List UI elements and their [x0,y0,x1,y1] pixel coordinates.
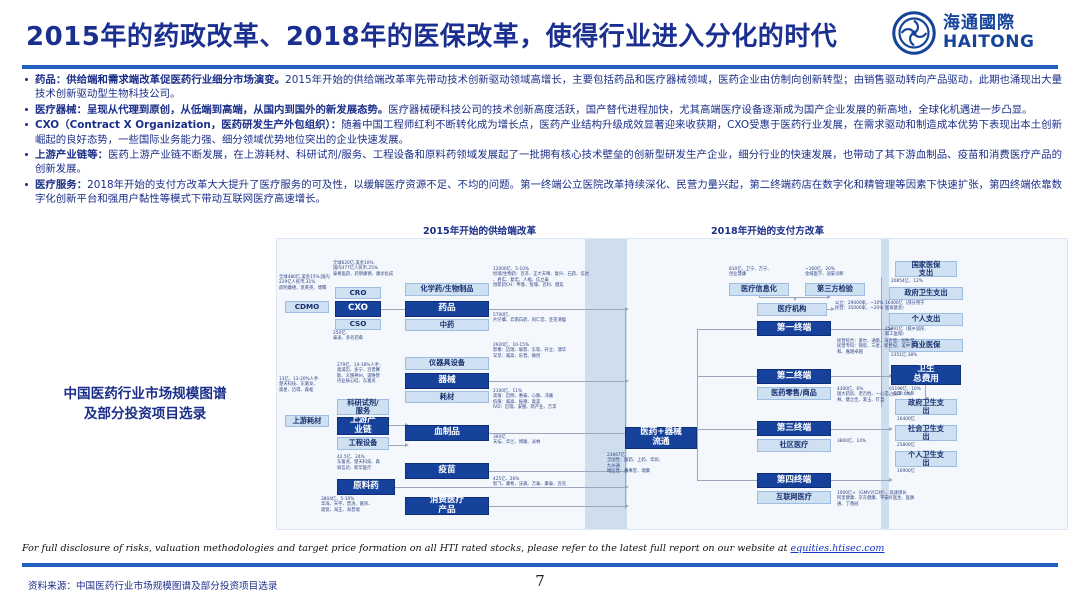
diagram-note-n_cons: 2100亿、11% 高值：启明、惠泰、心脉、沛嘉 低值：威高、振德、奥美 IVD… [493,389,601,411]
slide-page: 2015年的药政改革、2018年的医保改革，使得行业进入分化的时代 海通國際 H… [0,0,1080,607]
diagram-node-instr[interactable]: 仪器具设备 [405,357,489,370]
diagram-node-morg[interactable]: 医疗机构 [757,303,827,316]
diagram-note-n_t4: 1000亿+（GMV计口径），高速增长 阿里健康、京东健康、平安好医生、医脉 通… [837,491,917,507]
connector-line [697,376,757,377]
bullet-lead: 上游产业链等： [35,149,108,161]
diagram-note-n_third: ~160亿、20% 金域医学、迪安诊断 [805,267,867,278]
diagram-note-n_pers2: 16900亿 [897,469,957,474]
diagram-note-n_cso: 250亿, 泰凌、多名药肴 [333,331,381,342]
diagram-node-dev[interactable]: 器械 [405,373,489,389]
connector-line [831,480,889,481]
diagram-node-t4[interactable]: 第四终端 [757,473,831,488]
connector-line [831,429,889,430]
diagram-note-n_gov2: 16400亿 [897,417,957,422]
diagram-node-drug[interactable]: 药品 [405,301,489,317]
diagram-node-vacc[interactable]: 疫苗 [405,463,489,479]
market-map-diagram: 2015年开始的供给端改革2018年开始的支付方改革CROCXOCSOCDMO化… [276,238,1068,530]
bullet-body: 医疗器械硬科技公司的技术创新高度活跃，国产替代进程加快，尤其高端医疗设备逐渐成为… [388,104,1032,116]
logo-text-cn: 海通國際 [943,15,1034,32]
logo-text-en: HAITONG [943,34,1034,51]
bullet-item: CXO（Contract X Organization，医药研发生产外包组织）：… [22,118,1062,147]
connector-arrow [889,427,893,431]
diagram-note-n_tcm: 5700亿、 片仔癀、云南白药、同仁堂、连花清瘟 [493,313,601,324]
connector-line [381,309,405,310]
diagram-node-pers2[interactable]: 个人卫生支 出 [895,451,957,467]
connector-line [697,329,757,330]
diagram-note-n_blood: 360亿 天坛、华兰、博雅、派林 [493,435,601,446]
bullet-item: 医疗器械：呈现从代理到原创，从低端到高端，从国内到国外的新发展态势。医疗器械硬科… [22,103,1062,117]
bullet-body: 2018年开始的支付方改革大大提升了医疗服务的可及性，以缓解医疗资源不足、不均的… [35,179,1062,205]
diagram-node-retail[interactable]: 医药零售/商品 [757,387,831,400]
bullet-lead: CXO（Contract X Organization，医药研发生产外包组织）： [35,119,341,131]
connector-line [697,429,757,430]
diagram-note-n_t3: 3800亿、14% [837,439,897,444]
diagram-node-chem[interactable]: 化学药/生物制品 [405,283,489,296]
diagram-node-upchain[interactable]: 上游产 业链 [337,417,389,435]
connector-arrow [405,443,409,447]
diagram-node-total[interactable]: 卫生 总费用 [891,365,961,385]
diagram-band [881,239,889,529]
diagram-node-blood[interactable]: 血制品 [405,425,489,441]
diagram-node-t2[interactable]: 第二终端 [757,369,831,384]
diagram-node-api[interactable]: 原料药 [337,479,395,495]
slide-header: 2015年的药政改革、2018年的医保改革，使得行业进入分化的时代 海通國際 H… [0,0,1080,62]
diagram-node-reag[interactable]: 科研试剂/ 服务 [337,399,389,415]
header-divider [22,65,1058,69]
diagram-node-cmed[interactable]: 消费医疗 产品 [405,497,489,515]
connector-line [489,506,625,507]
diagram-caption: 中国医药行业市场规模图谱 及部分投资项目选录 [20,384,270,424]
bullet-item: 药品：供给端和需求端改革促医药行业细分市场演变。2015年开始的供给端改革率先带… [22,73,1062,102]
connector-arrow [889,478,893,482]
diagram-node-cro[interactable]: CRO [335,287,381,299]
diagram-note-n_soc: 25800亿 [897,443,957,448]
diagram-node-t3[interactable]: 第三终端 [757,421,831,436]
haitong-logo: 海通國際 HAITONG [892,8,1070,58]
diagram-note-n_chem: 12000亿、5-10% 恒瑞/生物药：百济、正大天晴、复兴、石药、信达 、君实… [493,267,601,289]
diagram-note-n_instr: 2920亿、10-15% 影像：迈瑞、联影、东软、开立、澳华 罕见：威高、乐普、… [493,343,601,359]
diagram-node-pers1[interactable]: 个人支出 [889,313,963,326]
diagram-node-minfo[interactable]: 医疗信息化 [729,283,789,296]
page-title: 2015年的药政改革、2018年的医保改革，使得行业进入分化的时代 [26,16,837,53]
diagram-note-n_minfo: 810亿、卫宁、万宁、 创业慧康 [729,267,791,278]
diagram-note-n_vacc: 425亿、26% 智飞、康希、沃森、万泰、康泰、百克 [493,477,601,488]
diagram-node-dist[interactable]: 医药+器械 流通 [625,427,697,449]
diagram-node-cons[interactable]: 耗材 [405,391,489,403]
haitong-logo-icon [892,11,936,55]
connector-line [489,471,625,472]
footer-divider [22,563,1058,567]
diagram-note-n_pers1: 25891亿（城乡居民、 职工医保） [885,327,961,338]
diagram-note-n_dist: 23667亿 全国性：国药、上药、华润、 九州通 地区性：嘉事堂、瑞康 [607,453,683,475]
connector-line [489,381,625,382]
bullet-list: 药品：供给端和需求端改革促医药行业细分市场演变。2015年开始的供给端改革率先带… [22,73,1062,208]
disclaimer-link[interactable]: equities.htisec.com [790,543,884,554]
connector-line [489,309,625,310]
diagram-node-eng[interactable]: 工程设备 [337,437,389,450]
diagram-note-n_nhi: 20854亿、12% [891,279,955,284]
diagram-node-third[interactable]: 第三方检验 [805,283,865,296]
diagram-node-t1[interactable]: 第一终端 [757,321,831,336]
bullet-item: 上游产业链等：医药上游产业链不断发展，在上游耗材、科研试剂/服务、工程设备和原料… [22,148,1062,177]
page-number: 7 [0,572,1080,590]
diagram-node-upcon[interactable]: 上游耗材 [285,415,329,427]
diagram-note-n_cins: 2351亿,38% [891,353,955,358]
diagram-note-n_gov1: 16400亿（部分用于 医保基金） [885,301,961,312]
diagram-section-heading: 2015年开始的供给端改革 [423,223,536,237]
diagram-node-cdmo[interactable]: CDMO [285,301,329,313]
diagram-node-cxo[interactable]: CXO [335,301,381,317]
disclaimer-text: For full disclosure of risks, valuation … [22,543,790,554]
diagram-section-heading: 2018年开始的支付方改革 [711,223,824,237]
diagram-node-cso[interactable]: CSO [335,319,381,330]
connector-line [697,480,757,481]
bullet-lead: 医疗器械：呈现从代理到原创，从低端到高端，从国内到国外的新发展态势。 [35,104,388,116]
diagram-note-n_cro: 全球620亿,美金10% 国内477亿人民币,25% 泰格医药、药明康德、康龙化… [333,261,401,277]
logo-wordmark: 海通國際 HAITONG [943,15,1034,51]
diagram-note-n_upch: 42.5亿、24% 东富龙、楚天科技、森 如信达、新华医疗 [337,455,391,471]
diagram-node-comm[interactable]: 社区医疗 [757,439,831,452]
diagram-node-gov1[interactable]: 政府卫生支出 [889,287,963,300]
bullet-lead: 医疗服务： [35,179,87,191]
bullet-lead: 药品：供给端和需求端改革促医药行业细分市场演变。 [35,74,285,86]
disclaimer: For full disclosure of risks, valuation … [22,543,1062,554]
diagram-note-n_upcon: 13亿、13-20%人手 楚天科技、东富龙、 奥星、迈得、森松 [279,377,329,393]
bullet-body: 医药上游产业链不断发展，在上游耗材、科研试剂/服务、工程设备和原料药领域发展起了… [35,149,1062,175]
bullet-item: 医疗服务：2018年开始的支付方改革大大提升了医疗服务的可及性，以缓解医疗资源不… [22,178,1062,207]
diagram-node-inet[interactable]: 互联网医疗 [757,491,831,504]
connector-line [489,433,625,434]
diagram-note-n_upmid: 279亿、14-18%人手； 奥浦迈、多宁、百普赛 斯、义翘神州、诺唯赞 内业核… [337,363,391,385]
diagram-note-n_total: 65196亿、10% 占GDP 6% [889,387,953,398]
diagram-node-soc[interactable]: 社会卫生支 出 [895,425,957,441]
connector-arrow [793,297,797,301]
diagram-node-nhi[interactable]: 国家医保 支出 [895,261,957,277]
connector-line [697,329,698,481]
diagram-note-n_cdmo: 全球480亿,美金15%;国内 229亿人民币,31% 药明康德、凯莱英、博腾 [279,275,331,291]
diagram-node-tcm[interactable]: 中药 [405,319,489,331]
diagram-note-n_api: 3804亿、5-10% 华海、天宇、普洛、富祥、 奥锐、海正、海普瑞 [321,497,413,513]
